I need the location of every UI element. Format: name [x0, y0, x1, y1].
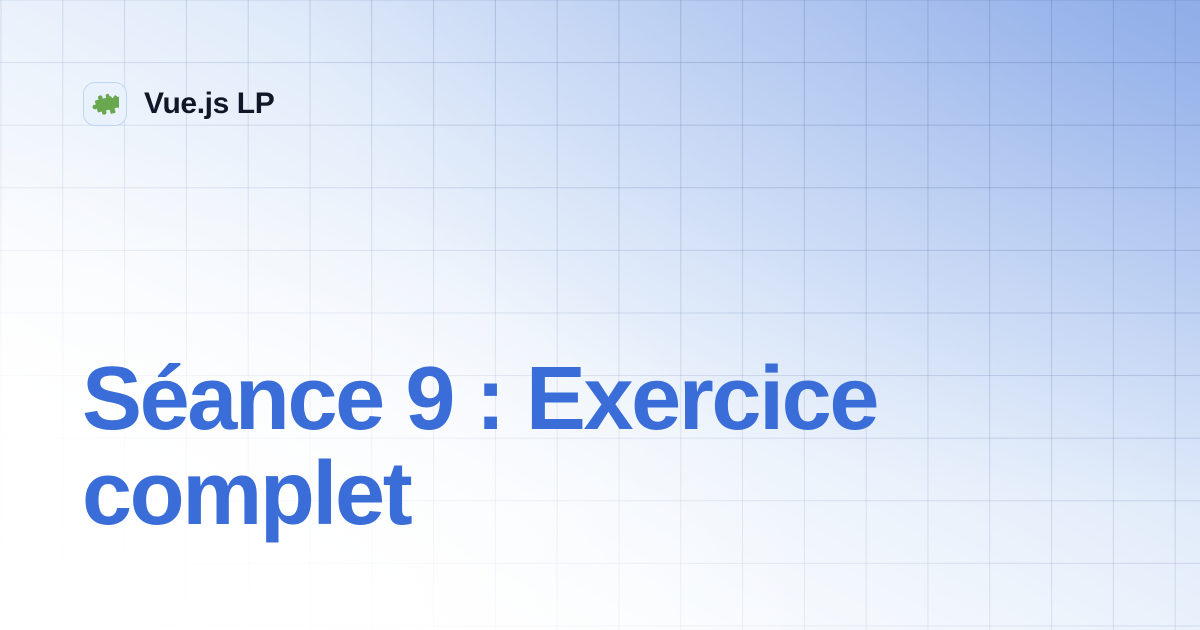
og-card: Vue.js LP Séance 9 : Exercice complet: [0, 0, 1200, 630]
brand: Vue.js LP: [83, 82, 274, 126]
brand-badge: [83, 82, 127, 126]
brand-name: Vue.js LP: [144, 89, 274, 119]
card-content: Vue.js LP Séance 9 : Exercice complet: [0, 0, 1200, 630]
page-title: Séance 9 : Exercice complet: [82, 352, 982, 542]
puzzle-piece-icon: [92, 91, 119, 118]
